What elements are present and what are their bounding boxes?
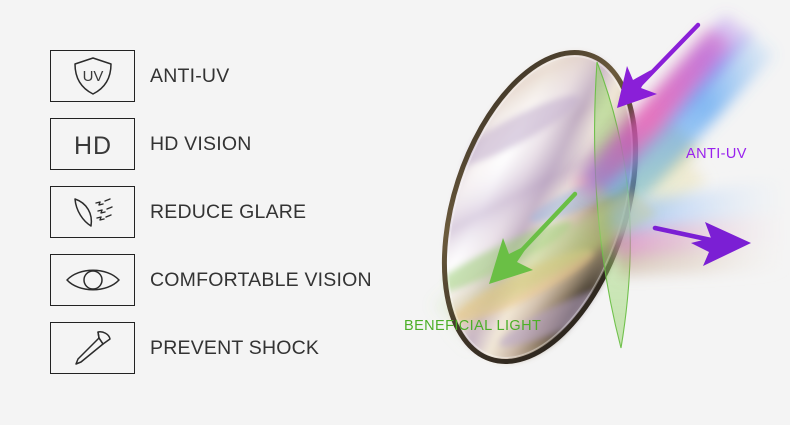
feature-item-reduce-glare: REDUCE GLARE [50,186,450,238]
hammer-icon [50,322,135,374]
feature-label-anti-uv: ANTI-UV [150,65,229,88]
label-beneficial-light: BENEFICIAL LIGHT [404,318,541,334]
eye-icon [50,254,135,306]
feature-label-comfortable-vision: COMFORTABLE VISION [150,269,372,292]
feature-item-hd-vision: HD HD VISION [50,118,450,170]
feature-item-prevent-shock: PREVENT SHOCK [50,322,450,374]
feature-label-hd-vision: HD VISION [150,133,251,156]
feature-item-comfortable-vision: COMFORTABLE VISION [50,254,450,306]
uv-shield-icon: UV [50,50,135,102]
feature-label-prevent-shock: PREVENT SHOCK [150,337,319,360]
svg-text:HD: HD [73,132,111,160]
hd-icon: HD [50,118,135,170]
lens-feature-graphic: UV ANTI-UV HD HD VISION [0,0,790,425]
feature-label-reduce-glare: REDUCE GLARE [150,201,306,224]
glare-reduction-icon [50,186,135,238]
svg-text:UV: UV [82,68,103,85]
optical-lens-diagram [395,0,790,425]
feature-list: UV ANTI-UV HD HD VISION [50,50,450,390]
label-anti-uv: ANTI-UV [686,146,747,162]
feature-item-anti-uv: UV ANTI-UV [50,50,450,102]
